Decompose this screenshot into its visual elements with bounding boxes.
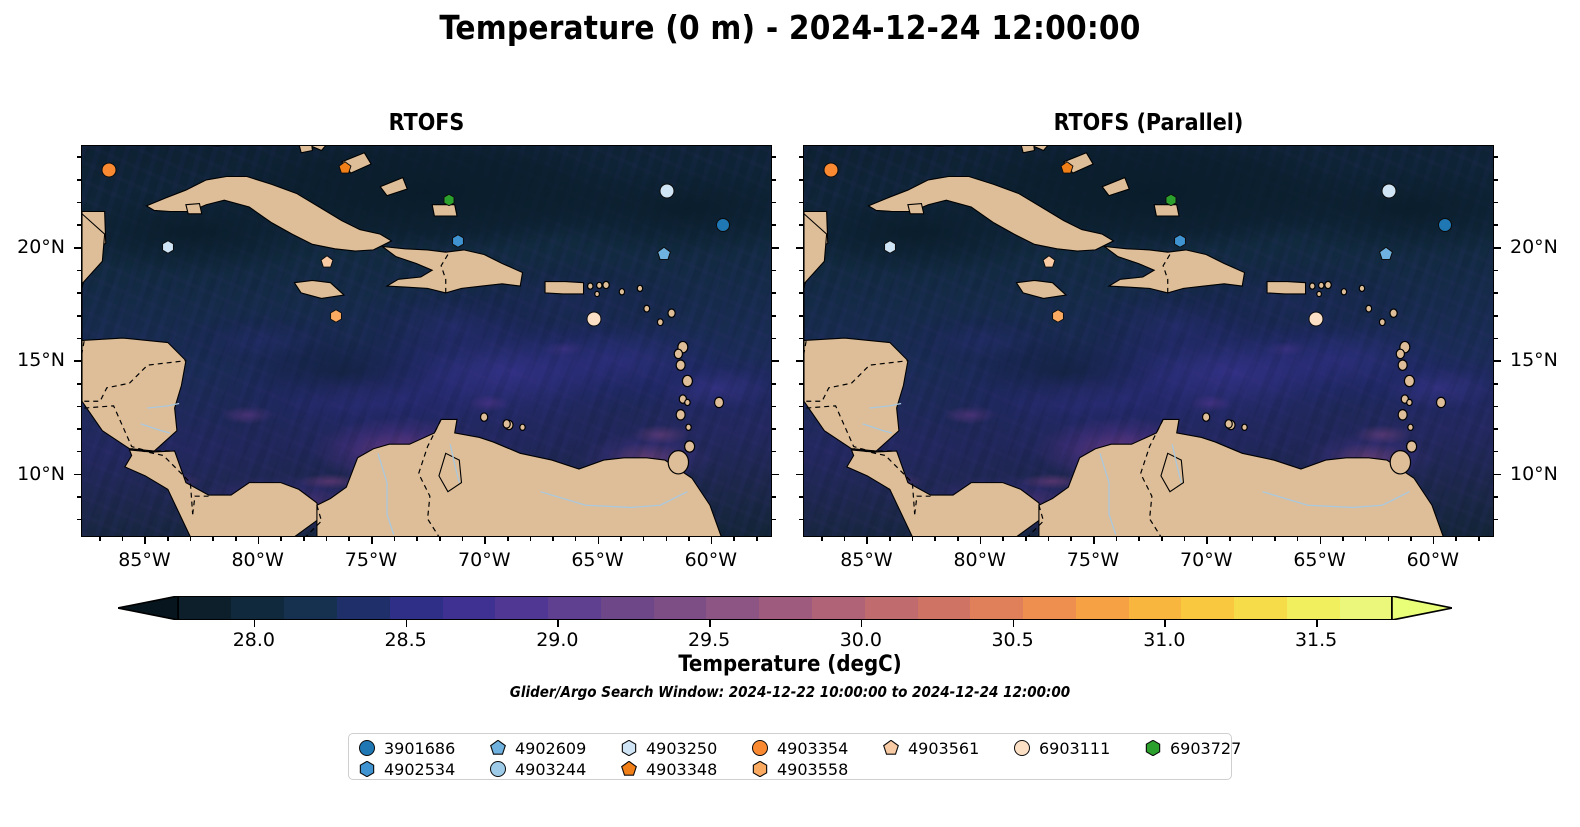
colorbar-tick-label: 28.5: [384, 629, 426, 651]
xtick-minor: [416, 537, 418, 541]
ytick-minor: [772, 451, 776, 453]
legend-item-4903558[interactable]: 4903558: [752, 758, 848, 780]
ytick-minor: [77, 202, 81, 204]
colorbar-tick: [254, 620, 255, 627]
legend-label: 4903561: [908, 739, 979, 758]
ytick-minor: [799, 202, 803, 204]
ytick-label: 20°N: [1510, 236, 1558, 258]
colorbar-extend-max: [1392, 596, 1452, 620]
colorbar-extend-min: [118, 596, 178, 620]
xtick-minor: [620, 537, 622, 541]
colorbar-segment: [1181, 596, 1234, 620]
ytick-minor: [799, 383, 803, 385]
xtick: [371, 537, 373, 544]
legend-item-4903348[interactable]: 4903348: [621, 758, 717, 780]
ytick-minor: [77, 451, 81, 453]
legend-marker-hexagon-icon: [621, 740, 637, 756]
coastlines: [82, 146, 771, 536]
xtick-minor: [439, 537, 441, 541]
legend-marker-pentagon-icon: [490, 740, 506, 756]
xtick-minor: [688, 537, 690, 541]
legend-row-2: 4902534490324449033484903558: [349, 758, 1231, 780]
legend-marker-hexagon-icon: [1145, 740, 1161, 756]
map-marker-4902609[interactable]: [1379, 247, 1393, 261]
ytick-minor: [1494, 428, 1498, 430]
colorbar-segment: [178, 596, 231, 620]
ytick-minor: [799, 428, 803, 430]
xtick-minor: [1184, 537, 1186, 541]
colorbar-tick: [1164, 620, 1165, 627]
map-marker-4903561[interactable]: [320, 255, 333, 268]
ytick-minor: [77, 315, 81, 317]
xtick-label: 85°W: [118, 549, 170, 571]
xtick-label: 75°W: [1067, 549, 1119, 571]
ytick-minor: [77, 156, 81, 158]
map-marker-6903111[interactable]: [1309, 312, 1324, 327]
map-marker-4903348[interactable]: [338, 161, 351, 174]
panel-title-rtofs: RTOFS: [81, 110, 772, 136]
colorbar-segment: [811, 596, 864, 620]
colorbar-segment: [917, 596, 970, 620]
map-marker-4903250b[interactable]: [162, 240, 175, 253]
xtick-minor: [552, 537, 554, 541]
legend-marker-circle-icon: [752, 740, 768, 756]
coastlines: [804, 146, 1493, 536]
colorbar-label: Temperature (degC): [0, 652, 1580, 677]
ytick-minor: [77, 292, 81, 294]
xtick-minor: [733, 537, 735, 541]
colorbar-segment: [1023, 596, 1076, 620]
xtick-minor: [462, 537, 464, 541]
ytick-label: 20°N: [17, 236, 65, 258]
panel-title-rtofs-parallel: RTOFS (Parallel): [803, 110, 1494, 136]
colorbar-segment: [547, 596, 600, 620]
xtick: [1206, 537, 1208, 544]
platform-legend[interactable]: 3901686490260949032504903354490356169031…: [348, 733, 1232, 780]
map-panel-rtofs: RTOFS 85°W80°W75°W70°W65°W60°W20°N15°N10…: [81, 145, 772, 537]
colorbar-segment: [1286, 596, 1339, 620]
ytick-minor: [77, 179, 81, 181]
colorbar-segment: [600, 596, 653, 620]
ytick-minor: [799, 338, 803, 340]
map-marker-3901686[interactable]: [1438, 218, 1452, 232]
xtick-label: 65°W: [571, 549, 623, 571]
xtick-label: 70°W: [1180, 549, 1232, 571]
map-marker-4903558[interactable]: [1051, 309, 1064, 322]
legend-marker-hexagon-icon: [752, 761, 768, 777]
colorbar-segment: [1075, 596, 1128, 620]
ytick-minor: [772, 179, 776, 181]
ytick-minor: [77, 496, 81, 498]
colorbar-tick-label: 31.0: [1143, 629, 1185, 651]
ytick: [74, 474, 81, 476]
ytick-minor: [77, 519, 81, 521]
xtick-minor: [821, 537, 823, 541]
xtick-minor: [190, 537, 192, 541]
map-marker-4902534[interactable]: [1174, 235, 1187, 248]
ytick-minor: [772, 292, 776, 294]
map-marker-4902534[interactable]: [452, 235, 465, 248]
colorbar-segment: [653, 596, 706, 620]
ytick-minor: [1494, 406, 1498, 408]
colorbar-segment: [1339, 596, 1392, 620]
ytick: [796, 360, 803, 362]
xtick-minor: [1116, 537, 1118, 541]
ytick: [74, 360, 81, 362]
map-marker-6903727[interactable]: [1165, 194, 1177, 206]
ytick-minor: [799, 519, 803, 521]
legend-marker-pentagon-icon: [883, 740, 899, 756]
colorbar-tick-label: 31.5: [1295, 629, 1337, 651]
legend-marker-circle-icon: [490, 761, 506, 777]
ytick-minor: [772, 383, 776, 385]
map-marker-4903250[interactable]: [659, 184, 674, 199]
ytick-minor: [799, 292, 803, 294]
xtick: [1093, 537, 1095, 544]
xtick-minor: [1138, 537, 1140, 541]
xtick-minor: [643, 537, 645, 541]
colorbar-segment: [231, 596, 284, 620]
legend-item-4902609[interactable]: 4902609: [490, 737, 586, 759]
ytick-minor: [772, 315, 776, 317]
ytick: [1494, 474, 1501, 476]
xtick-label: 75°W: [345, 549, 397, 571]
page-title: Temperature (0 m) - 2024-12-24 12:00:00: [0, 8, 1580, 47]
xtick: [598, 537, 600, 544]
legend-item-4903354[interactable]: 4903354: [752, 737, 848, 759]
legend-item-4902534[interactable]: 4902534: [359, 758, 455, 780]
ytick: [796, 474, 803, 476]
xtick-label: 85°W: [840, 549, 892, 571]
xtick-minor: [1388, 537, 1390, 541]
legend-label: 6903727: [1170, 739, 1241, 758]
map-canvas-rtofs-parallel[interactable]: [803, 145, 1494, 537]
legend-marker-pentagon-icon: [621, 761, 637, 777]
legend-marker-circle-icon: [1014, 740, 1030, 756]
ytick-minor: [1494, 451, 1498, 453]
ytick: [1494, 360, 1501, 362]
ytick-minor: [77, 428, 81, 430]
legend-label: 4903244: [515, 760, 586, 779]
colorbar-tick: [709, 620, 710, 627]
legend-item-4903250[interactable]: 4903250: [621, 737, 717, 759]
xtick-minor: [1252, 537, 1254, 541]
map-marker-4903250b[interactable]: [884, 240, 897, 253]
xtick-label: 60°W: [685, 549, 737, 571]
colorbar-tick-label: 30.0: [840, 629, 882, 651]
xtick-minor: [167, 537, 169, 541]
xtick-minor: [303, 537, 305, 541]
colorbar-segment: [284, 596, 337, 620]
map-marker-4903348[interactable]: [1060, 161, 1073, 174]
xtick-minor: [666, 537, 668, 541]
xtick-minor: [1410, 537, 1412, 541]
map-marker-4903558[interactable]: [329, 309, 342, 322]
xtick-minor: [1274, 537, 1276, 541]
xtick-minor: [99, 537, 101, 541]
xtick: [144, 537, 146, 544]
xtick: [711, 537, 713, 544]
ytick-minor: [772, 406, 776, 408]
legend-item-3901686[interactable]: 3901686: [359, 737, 455, 759]
ytick-minor: [77, 406, 81, 408]
xtick-minor: [122, 537, 124, 541]
colorbar-gradient: [178, 596, 1392, 620]
ytick-minor: [799, 156, 803, 158]
ytick: [74, 247, 81, 249]
xtick: [258, 537, 260, 544]
xtick-minor: [235, 537, 237, 541]
colorbar-segment: [389, 596, 442, 620]
ytick-minor: [799, 496, 803, 498]
xtick-minor: [326, 537, 328, 541]
colorbar-tick: [861, 620, 862, 627]
xtick-label: 60°W: [1407, 549, 1459, 571]
xtick-minor: [1342, 537, 1344, 541]
ytick-minor: [799, 224, 803, 226]
ytick-minor: [1494, 383, 1498, 385]
ytick-minor: [1494, 338, 1498, 340]
legend-label: 6903111: [1039, 739, 1110, 758]
xtick-label: 70°W: [458, 549, 510, 571]
ytick: [1494, 247, 1501, 249]
ytick: [772, 360, 779, 362]
legend-label: 3901686: [384, 739, 455, 758]
legend-label: 4903348: [646, 760, 717, 779]
ytick-minor: [77, 270, 81, 272]
map-marker-3901686[interactable]: [716, 218, 730, 232]
ytick-label: 15°N: [17, 349, 65, 371]
ytick-minor: [799, 406, 803, 408]
ytick-minor: [1494, 156, 1498, 158]
ytick-minor: [1494, 519, 1498, 521]
xtick-minor: [1070, 537, 1072, 541]
xtick-minor: [212, 537, 214, 541]
ytick-minor: [1494, 224, 1498, 226]
legend-marker-circle-icon: [359, 740, 375, 756]
xtick-minor: [1002, 537, 1004, 541]
colorbar-tick: [1013, 620, 1014, 627]
legend-item-4903561[interactable]: 4903561: [883, 737, 979, 759]
ytick-minor: [772, 224, 776, 226]
xtick-minor: [1025, 537, 1027, 541]
legend-label: 4903354: [777, 739, 848, 758]
ytick-minor: [1494, 179, 1498, 181]
legend-item-6903111[interactable]: 6903111: [1014, 737, 1110, 759]
map-marker-6903727[interactable]: [443, 194, 455, 206]
xtick-minor: [507, 537, 509, 541]
ytick-label: 10°N: [1510, 463, 1558, 485]
xtick-label: 65°W: [1293, 549, 1345, 571]
ytick-minor: [799, 270, 803, 272]
xtick-minor: [1478, 537, 1480, 541]
ytick-minor: [1494, 315, 1498, 317]
map-marker-4903354[interactable]: [102, 162, 117, 177]
colorbar-segment: [970, 596, 1023, 620]
ytick-label: 10°N: [17, 463, 65, 485]
xtick-minor: [394, 537, 396, 541]
ytick-minor: [799, 315, 803, 317]
legend-label: 4903558: [777, 760, 848, 779]
colorbar-segment: [1234, 596, 1287, 620]
map-marker-4902609[interactable]: [657, 247, 671, 261]
colorbar-segment: [495, 596, 548, 620]
ytick-minor: [799, 179, 803, 181]
ytick-minor: [1494, 496, 1498, 498]
xtick: [1433, 537, 1435, 544]
ytick-minor: [772, 496, 776, 498]
colorbar-segment: [864, 596, 917, 620]
xtick-minor: [844, 537, 846, 541]
xtick-minor: [1048, 537, 1050, 541]
ytick-minor: [1494, 270, 1498, 272]
ytick-minor: [772, 428, 776, 430]
ytick: [796, 247, 803, 249]
legend-item-4903244[interactable]: 4903244: [490, 758, 586, 780]
xtick-label: 80°W: [953, 549, 1005, 571]
colorbar-segment: [706, 596, 759, 620]
colorbar-tick-label: 29.5: [688, 629, 730, 651]
legend-marker-hexagon-icon: [359, 761, 375, 777]
colorbar-segment: [336, 596, 389, 620]
search-window-subtitle: Glider/Argo Search Window: 2024-12-22 10…: [0, 683, 1580, 701]
map-marker-4903561[interactable]: [1042, 255, 1055, 268]
xtick-minor: [1455, 537, 1457, 541]
xtick: [1320, 537, 1322, 544]
xtick-minor: [934, 537, 936, 541]
ytick-minor: [772, 156, 776, 158]
xtick-minor: [889, 537, 891, 541]
xtick-label: 80°W: [231, 549, 283, 571]
ytick-label: 15°N: [1510, 349, 1558, 371]
ytick-minor: [1494, 202, 1498, 204]
xtick-minor: [280, 537, 282, 541]
colorbar-tick-label: 30.5: [991, 629, 1033, 651]
colorbar[interactable]: 28.028.529.029.530.030.531.031.5: [118, 596, 1452, 620]
xtick: [484, 537, 486, 544]
ytick-minor: [772, 202, 776, 204]
xtick-minor: [575, 537, 577, 541]
xtick-minor: [912, 537, 914, 541]
ytick-minor: [772, 338, 776, 340]
colorbar-tick: [1316, 620, 1317, 627]
map-marker-4903250[interactable]: [1381, 184, 1396, 199]
map-marker-4903354[interactable]: [824, 162, 839, 177]
ytick-minor: [77, 338, 81, 340]
xtick-minor: [1365, 537, 1367, 541]
xtick-minor: [1161, 537, 1163, 541]
ytick-minor: [772, 270, 776, 272]
legend-label: 4902534: [384, 760, 455, 779]
ytick: [772, 474, 779, 476]
legend-row-1: 3901686490260949032504903354490356169031…: [349, 737, 1231, 759]
map-canvas-rtofs[interactable]: [81, 145, 772, 537]
legend-item-6903727[interactable]: 6903727: [1145, 737, 1241, 759]
ytick-minor: [77, 383, 81, 385]
xtick-minor: [957, 537, 959, 541]
ytick-minor: [77, 224, 81, 226]
xtick-minor: [1297, 537, 1299, 541]
colorbar-tick-label: 29.0: [536, 629, 578, 651]
colorbar-tick: [557, 620, 558, 627]
legend-label: 4902609: [515, 739, 586, 758]
colorbar-tick: [406, 620, 407, 627]
legend-label: 4903250: [646, 739, 717, 758]
colorbar-segment: [442, 596, 495, 620]
map-panel-rtofs-parallel: RTOFS (Parallel) 85°W80°W75°W70°W65°W60°…: [803, 145, 1494, 537]
ytick-minor: [772, 519, 776, 521]
xtick: [980, 537, 982, 544]
xtick: [866, 537, 868, 544]
ytick-minor: [1494, 292, 1498, 294]
xtick-minor: [756, 537, 758, 541]
colorbar-tick-label: 28.0: [233, 629, 275, 651]
xtick-minor: [530, 537, 532, 541]
xtick-minor: [1229, 537, 1231, 541]
ytick-minor: [799, 451, 803, 453]
ytick: [772, 247, 779, 249]
xtick-minor: [348, 537, 350, 541]
map-marker-6903111[interactable]: [587, 312, 602, 327]
colorbar-segment: [759, 596, 812, 620]
colorbar-segment: [1128, 596, 1181, 620]
